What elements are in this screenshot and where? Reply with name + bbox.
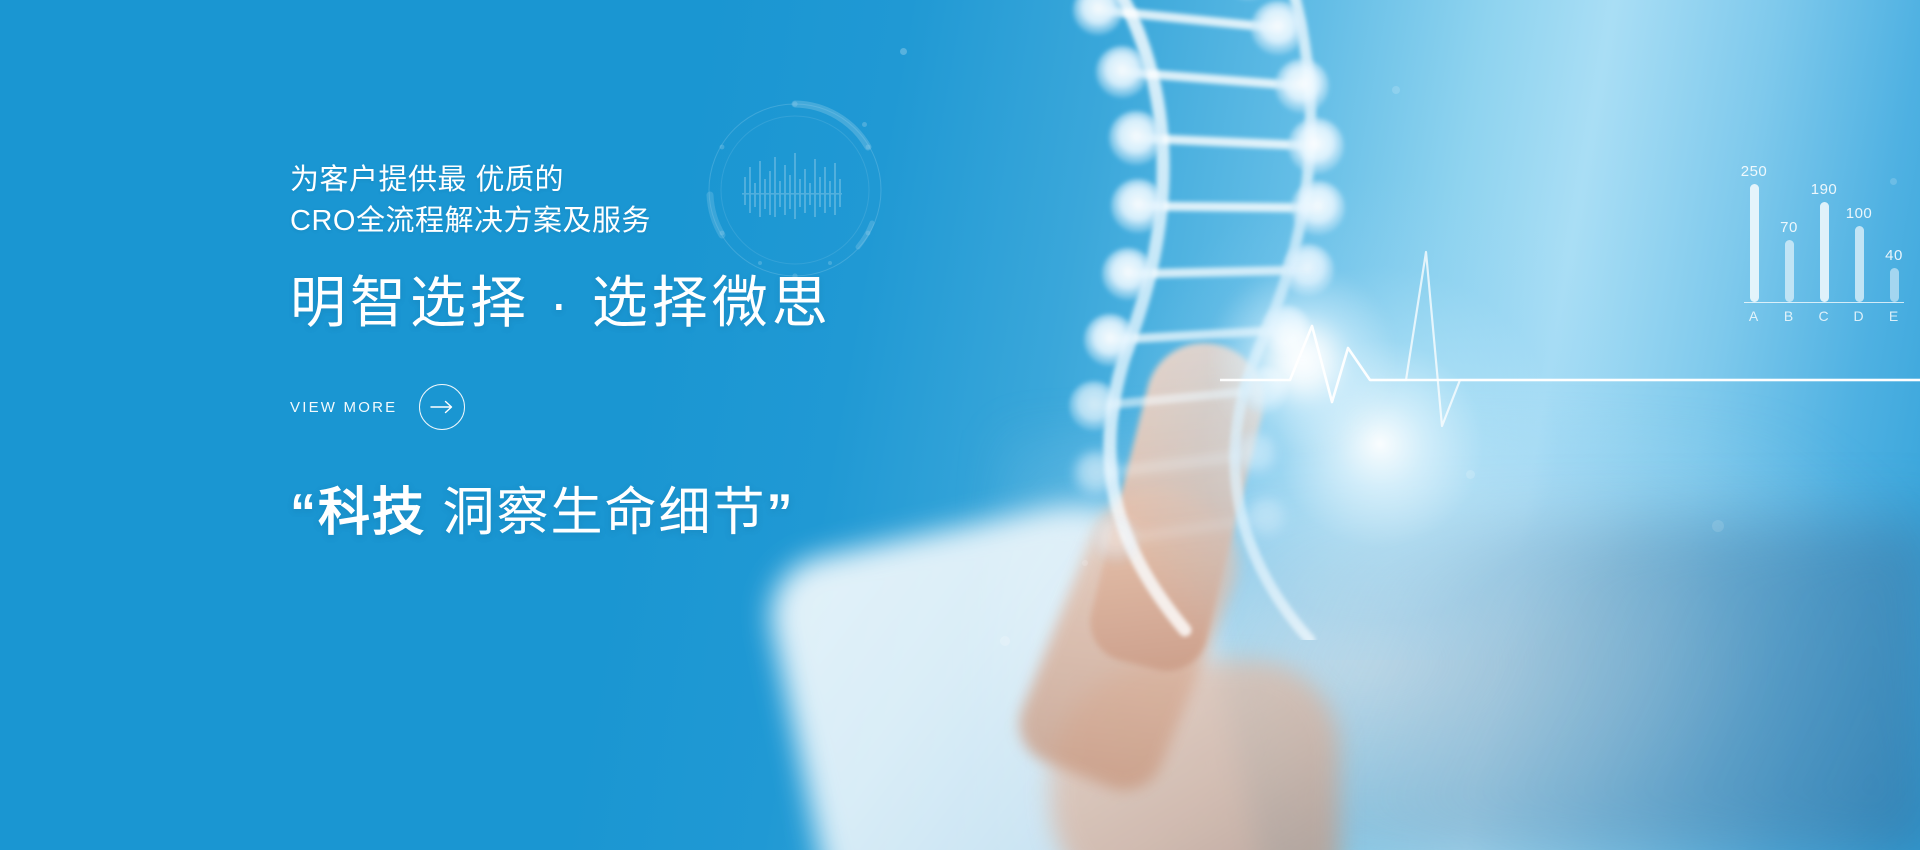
arrow-right-icon[interactable] xyxy=(419,384,465,430)
hero-banner: 250 70 190 100 40 A B C xyxy=(0,0,1920,850)
bar-value-label: 250 xyxy=(1741,164,1768,179)
quote-close-mark: ” xyxy=(766,484,794,542)
view-more-label: VIEW MORE xyxy=(290,399,397,416)
quote-open-mark: “ xyxy=(290,484,318,542)
hero-subtitle: 为客户提供最 优质的 CRO全流程解决方案及服务 xyxy=(290,160,1050,242)
hero-headline: 明智选择 · 选择微思 xyxy=(290,270,1050,336)
bar-chart: 250 70 190 100 40 A B C xyxy=(1744,150,1904,330)
bar-value-label: 70 xyxy=(1780,220,1798,235)
category-label: C xyxy=(1814,308,1834,324)
bar xyxy=(1750,184,1759,302)
bokeh-dot xyxy=(1392,86,1400,94)
bar-column: 190 xyxy=(1814,182,1834,302)
view-more-button[interactable]: VIEW MORE xyxy=(290,384,465,430)
bar-value-label: 100 xyxy=(1846,206,1873,221)
bar-chart-category-labels: A B C D E xyxy=(1744,308,1904,324)
category-label: A xyxy=(1744,308,1764,324)
hero-quote: “科技 洞察生命细节” xyxy=(290,482,1050,544)
bar xyxy=(1855,226,1864,302)
hero-content: 为客户提供最 优质的 CRO全流程解决方案及服务 明智选择 · 选择微思 VIE… xyxy=(290,160,1050,545)
bar xyxy=(1820,202,1829,302)
bar-chart-axis xyxy=(1744,302,1904,303)
bar-column: 70 xyxy=(1779,220,1799,302)
bar-chart-plot: 250 70 190 100 40 xyxy=(1744,150,1904,302)
bar-value-label: 190 xyxy=(1811,182,1838,197)
category-label: D xyxy=(1849,308,1869,324)
hero-subtitle-line-1: 为客户提供最 优质的 xyxy=(290,160,1050,201)
hero-subtitle-line-2: CRO全流程解决方案及服务 xyxy=(290,201,1050,242)
quote-strong-text: 科技 xyxy=(318,484,426,542)
bar-column: 40 xyxy=(1884,248,1904,302)
bar-value-label: 40 xyxy=(1885,248,1903,263)
bokeh-dot xyxy=(1712,520,1724,532)
bokeh-dot xyxy=(900,48,907,55)
bar-column: 250 xyxy=(1744,164,1764,302)
bar xyxy=(1785,240,1794,302)
category-label: E xyxy=(1884,308,1904,324)
bar-column: 100 xyxy=(1849,206,1869,302)
bokeh-dot xyxy=(1466,470,1475,479)
category-label: B xyxy=(1779,308,1799,324)
bokeh-dot xyxy=(1082,560,1088,566)
bokeh-dot xyxy=(1000,636,1010,646)
quote-light-text: 洞察生命细节 xyxy=(426,484,766,542)
bar xyxy=(1890,268,1899,302)
bokeh-dot xyxy=(862,122,867,127)
